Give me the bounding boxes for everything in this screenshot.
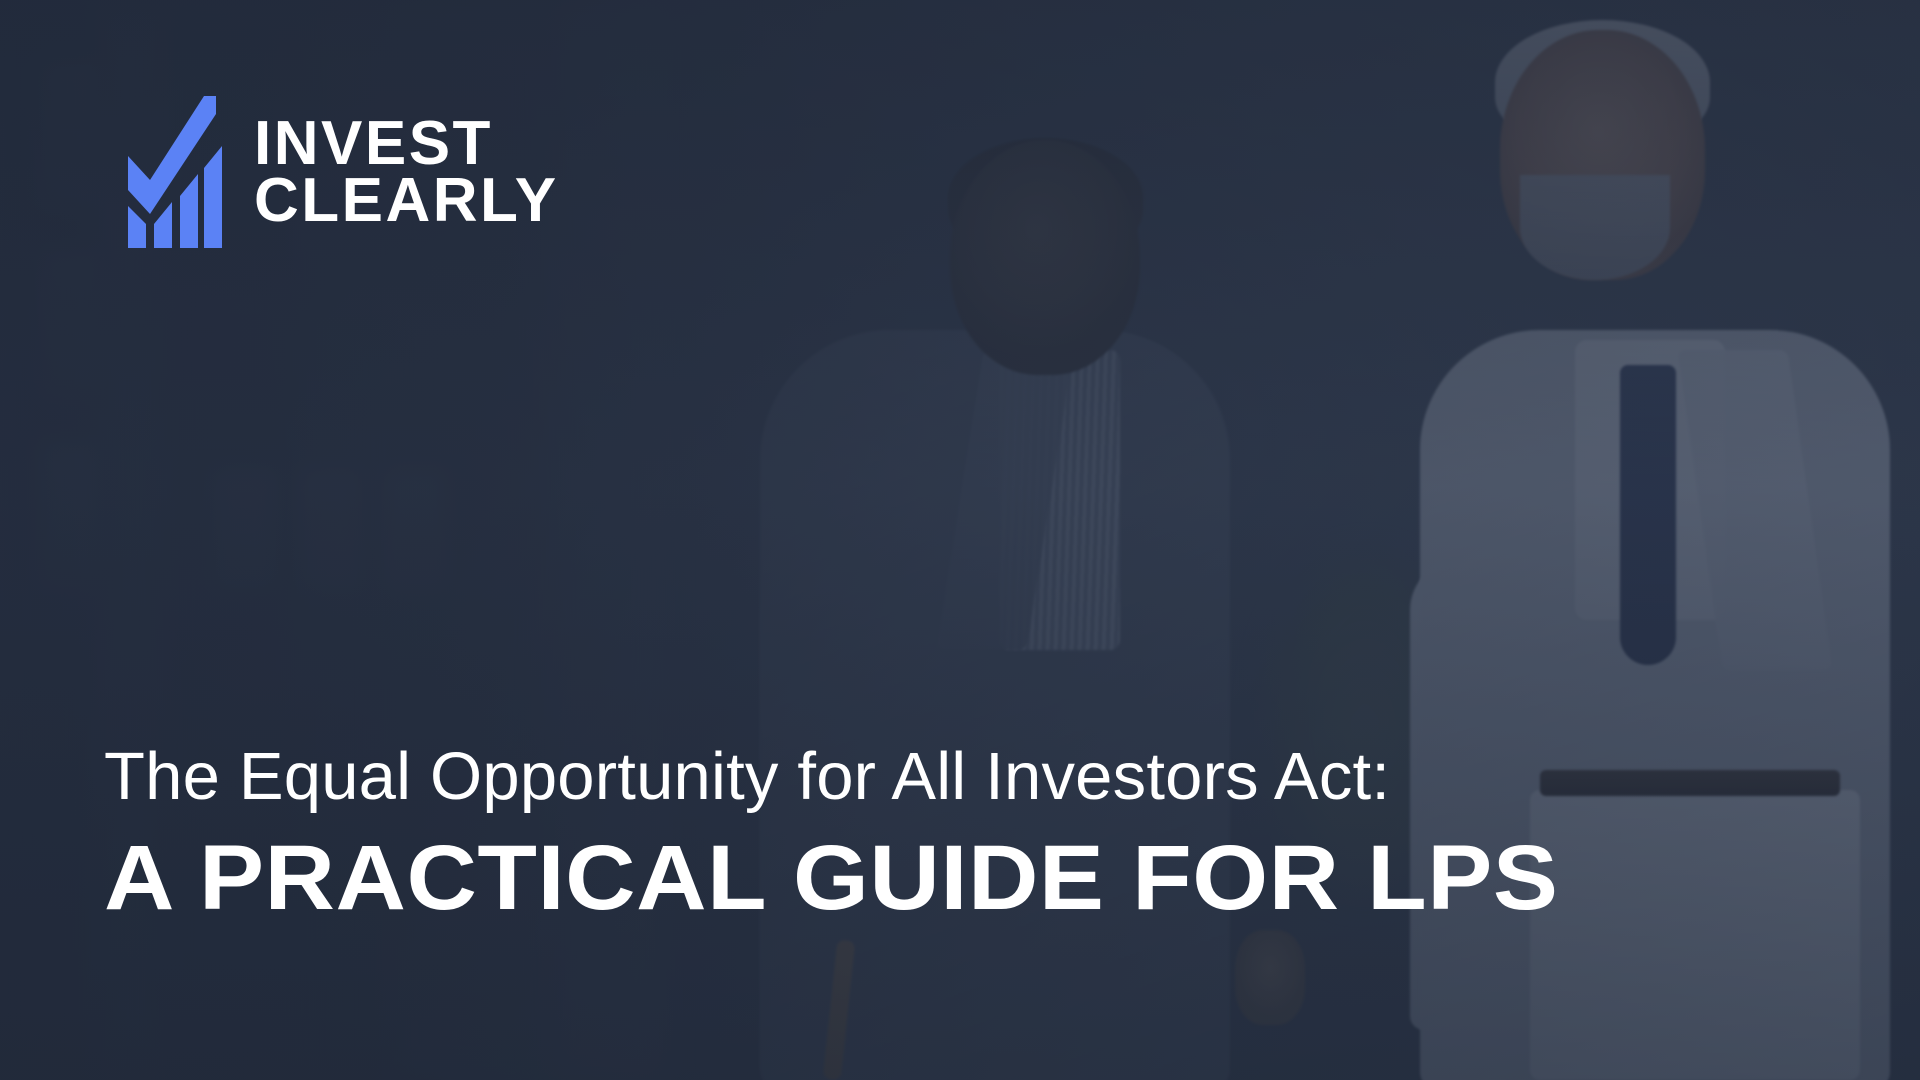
brand-wordmark: INVEST CLEARLY [254, 115, 559, 229]
hero-content: INVEST CLEARLY The Equal Opportunity for… [0, 0, 1920, 1080]
brand-name-line-2: CLEARLY [254, 172, 559, 229]
hero-subtitle: A PRACTICAL GUIDE FOR LPS [104, 827, 1920, 930]
hero-title: The Equal Opportunity for All Investors … [104, 741, 1834, 813]
growth-chart-check-icon [104, 96, 224, 248]
brand-name-line-1: INVEST [254, 115, 559, 172]
hero-banner: INVEST CLEARLY The Equal Opportunity for… [0, 0, 1920, 1080]
headline-block: The Equal Opportunity for All Investors … [104, 741, 1834, 930]
brand-logo-lockup[interactable]: INVEST CLEARLY [104, 96, 559, 248]
